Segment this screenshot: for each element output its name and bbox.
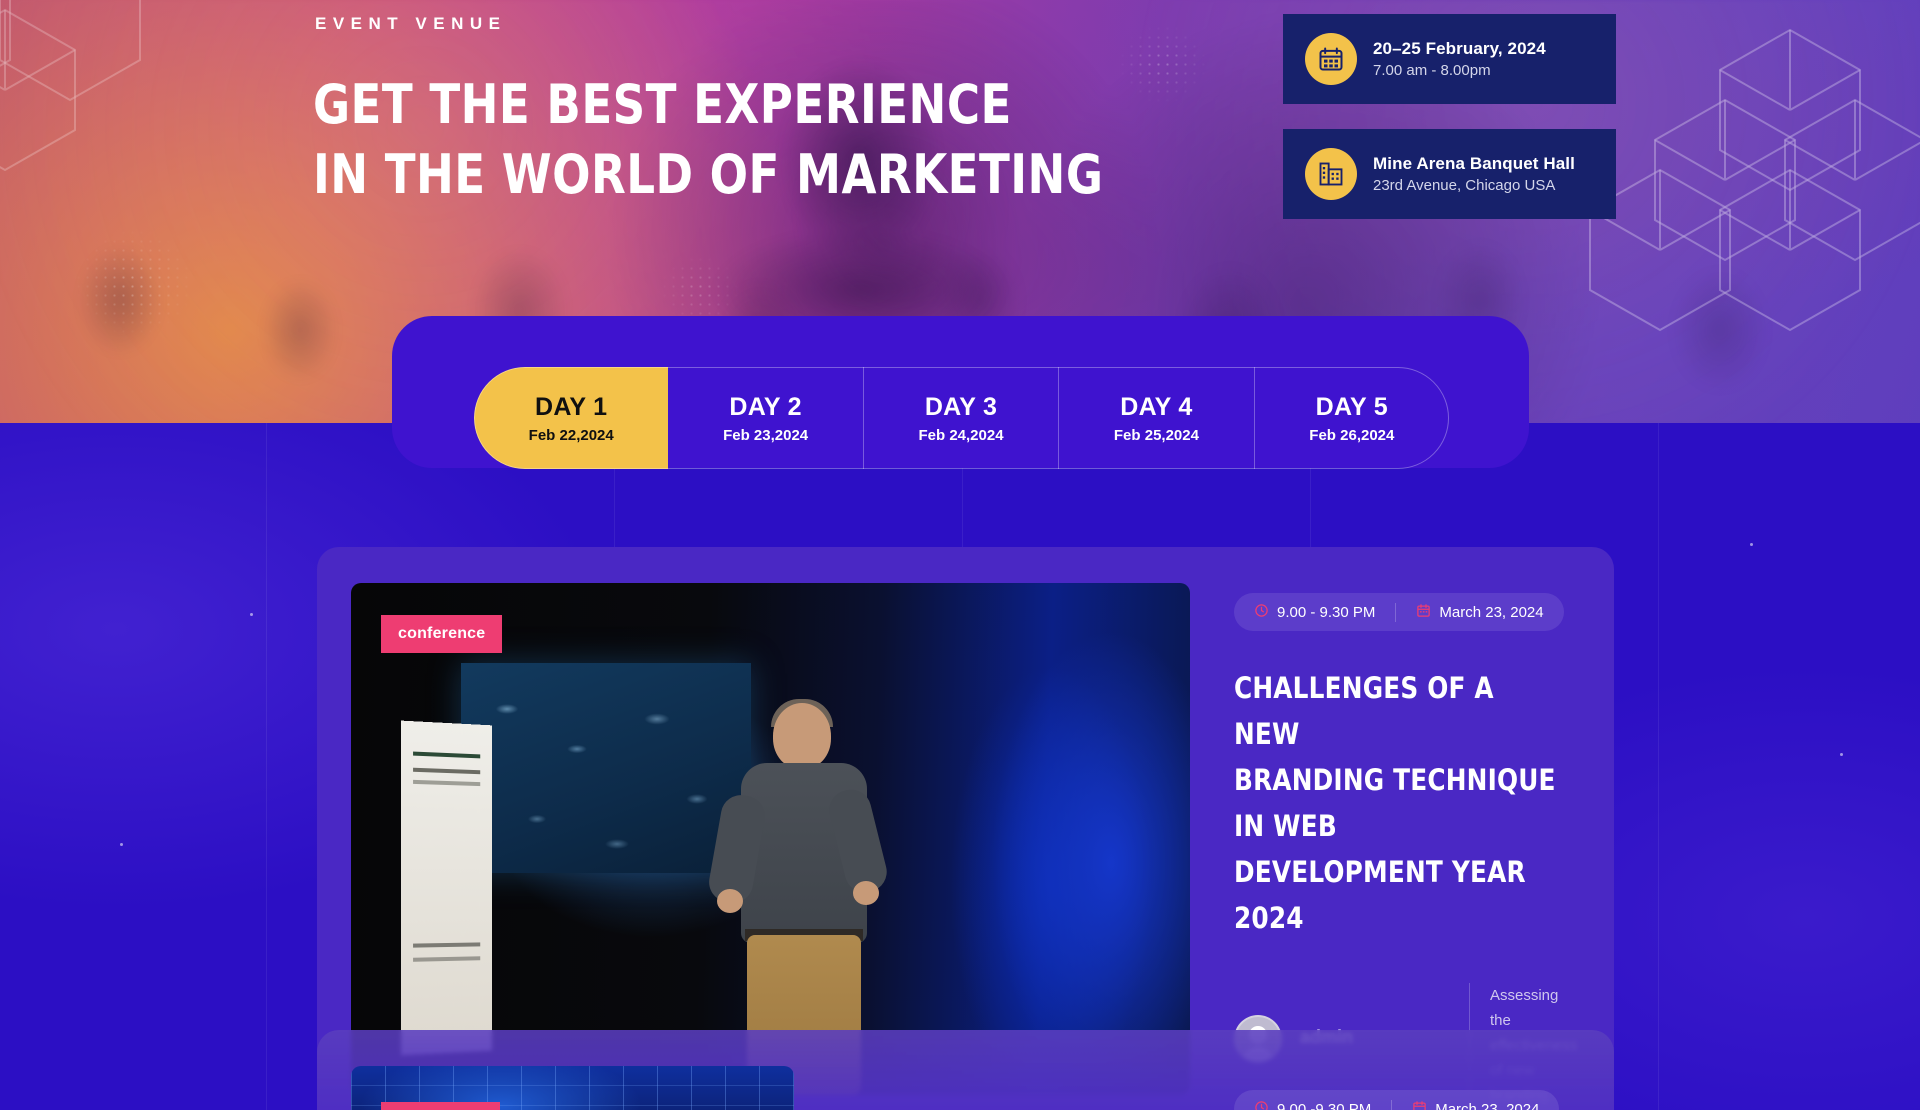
session-badge-next[interactable]: conference: [381, 1102, 500, 1110]
tab-day-1-date: Feb 22,2024: [529, 427, 614, 444]
session-time: 9.00 - 9.30 PM: [1234, 603, 1395, 622]
dot-pattern-left: [74, 228, 194, 338]
tab-day-4[interactable]: DAY 4 Feb 25,2024: [1059, 367, 1254, 469]
info-card-venue: Mine Arena Banquet Hall 23rd Avenue, Chi…: [1283, 129, 1616, 219]
tab-day-5-date: Feb 26,2024: [1309, 427, 1394, 444]
session-meta-next: 9.00 -9.30 PM March 23, 2024: [1234, 1090, 1559, 1110]
session-details: 9.00 - 9.30 PM March 23, 2024 CHALLENGES…: [1234, 583, 1581, 1095]
calendar-small-icon-next: [1412, 1100, 1427, 1110]
clock-icon: [1254, 603, 1269, 622]
session-time-text: 9.00 - 9.30 PM: [1277, 604, 1375, 621]
info-card-date-title: 20–25 February, 2024: [1373, 39, 1546, 59]
session-title-line-2: BRANDING TECHNIQUE IN WEB: [1234, 757, 1564, 849]
roll-up-banner: [401, 721, 492, 1056]
session-meta: 9.00 - 9.30 PM March 23, 2024: [1234, 593, 1564, 631]
presentation-screen: [461, 663, 751, 873]
session-time-next-text: 9.00 -9.30 PM: [1277, 1101, 1371, 1110]
clock-icon-next: [1254, 1100, 1269, 1110]
calendar-small-icon: [1416, 603, 1431, 622]
tab-day-2-name: DAY 2: [729, 393, 801, 422]
session-badge[interactable]: conference: [381, 615, 502, 653]
tab-day-5-name: DAY 5: [1316, 393, 1388, 422]
building-icon: [1305, 148, 1357, 200]
session-image: conference: [351, 583, 1190, 1095]
session-title[interactable]: CHALLENGES OF A NEW BRANDING TECHNIQUE I…: [1234, 665, 1564, 941]
session-title-line-3: DEVELOPMENT YEAR 2024: [1234, 849, 1564, 941]
calendar-icon: [1305, 33, 1357, 85]
tab-day-4-date: Feb 25,2024: [1114, 427, 1199, 444]
session-date-next: March 23, 2024: [1391, 1100, 1559, 1110]
info-card-date: 20–25 February, 2024 7.00 am - 8.00pm: [1283, 14, 1616, 104]
tab-day-2-date: Feb 23,2024: [723, 427, 808, 444]
session-item-next: conference 9.00 -9.30 PM March 23: [351, 1066, 1581, 1110]
tab-day-4-name: DAY 4: [1120, 393, 1192, 422]
tab-day-2[interactable]: DAY 2 Feb 23,2024: [668, 367, 863, 469]
session-image-next: conference: [351, 1066, 794, 1110]
info-card-venue-subtitle: 23rd Avenue, Chicago USA: [1373, 177, 1575, 194]
info-card-date-subtitle: 7.00 am - 8.00pm: [1373, 62, 1546, 79]
session-time-next: 9.00 -9.30 PM: [1234, 1100, 1391, 1110]
day-tabs[interactable]: DAY 1 Feb 22,2024 DAY 2 Feb 23,2024 DAY …: [474, 367, 1449, 469]
tab-day-3-name: DAY 3: [925, 393, 997, 422]
session-title-line-1: CHALLENGES OF A NEW: [1234, 665, 1564, 757]
dot-pattern-top: [1118, 24, 1208, 104]
tab-day-3-date: Feb 24,2024: [918, 427, 1003, 444]
page-title: GET THE BEST EXPERIENCE IN THE WORLD OF …: [313, 70, 1103, 210]
tab-day-1[interactable]: DAY 1 Feb 22,2024: [474, 367, 668, 469]
dot-pattern-center: [660, 255, 740, 325]
tab-day-3[interactable]: DAY 3 Feb 24,2024: [864, 367, 1059, 469]
tab-day-5[interactable]: DAY 5 Feb 26,2024: [1255, 367, 1449, 469]
session-details-next: 9.00 -9.30 PM March 23, 2024: [1234, 1066, 1581, 1110]
hero-title-line-2: IN THE WORLD OF MARKETING: [313, 140, 1103, 210]
hero-title-line-1: GET THE BEST EXPERIENCE: [313, 70, 1103, 140]
session-date-next-text: March 23, 2024: [1435, 1101, 1539, 1110]
session-date-text: March 23, 2024: [1439, 604, 1543, 621]
info-card-venue-title: Mine Arena Banquet Hall: [1373, 154, 1575, 174]
session-item: conference 9.00 - 9.30 PM: [351, 583, 1581, 1095]
tab-day-1-name: DAY 1: [535, 393, 607, 422]
hero-eyebrow: EVENT VENUE: [315, 14, 506, 34]
session-date: March 23, 2024: [1395, 603, 1563, 622]
